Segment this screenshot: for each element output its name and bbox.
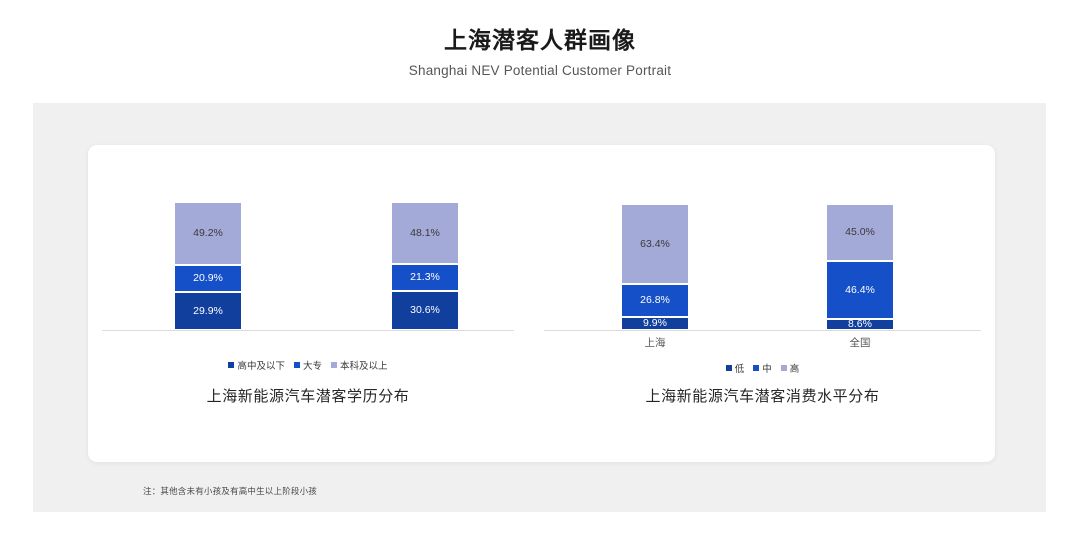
legend-label: 本科及以上 bbox=[340, 358, 388, 372]
legend-label: 高中及以下 bbox=[237, 358, 285, 372]
page-header: 上海潜客人群画像 Shanghai NEV Potential Customer… bbox=[0, 0, 1080, 78]
category-label: 上海 bbox=[621, 335, 689, 350]
chart-legend-consumption: 低 中 高 bbox=[544, 361, 981, 375]
chart-caption: 上海新能源汽车潜客学历分布 bbox=[102, 385, 514, 406]
chart-consumption-distribution: 63.4% 26.8% 9.9% 上海 45.0% 46.4% 8.6% 全国 bbox=[544, 145, 981, 415]
chart-education-distribution: 49.2% 20.9% 29.9% 48.1% 21.3% 30.6% 高中及 bbox=[102, 145, 514, 415]
legend-swatch-icon bbox=[294, 362, 300, 368]
charts-row: 49.2% 20.9% 29.9% 48.1% 21.3% 30.6% 高中及 bbox=[88, 145, 995, 415]
page-subtitle: Shanghai NEV Potential Customer Portrait bbox=[0, 63, 1080, 78]
bar-column[interactable]: 48.1% 21.3% 30.6% bbox=[391, 202, 459, 330]
bar-segment-high: 45.0% bbox=[826, 204, 894, 261]
bar-segment-highschool-below: 30.6% bbox=[391, 291, 459, 330]
charts-card: 49.2% 20.9% 29.9% 48.1% 21.3% 30.6% 高中及 bbox=[88, 145, 995, 462]
plot-area-consumption: 63.4% 26.8% 9.9% 上海 45.0% 46.4% 8.6% 全国 bbox=[544, 145, 981, 331]
bar-column[interactable]: 63.4% 26.8% 9.9% bbox=[621, 204, 689, 330]
footnote: 注：其他含未有小孩及有高中生以上阶段小孩 bbox=[143, 485, 317, 497]
chart-legend-education: 高中及以下 大专 本科及以上 bbox=[102, 358, 514, 372]
legend-swatch-icon bbox=[726, 365, 732, 371]
bar-segment-mid: 46.4% bbox=[826, 261, 894, 319]
page-title: 上海潜客人群画像 bbox=[0, 26, 1080, 55]
legend-swatch-icon bbox=[331, 362, 337, 368]
axis-line bbox=[544, 330, 981, 331]
bar-segment-low: 8.6% bbox=[826, 319, 894, 330]
legend-label: 高 bbox=[790, 361, 800, 375]
bar-segment-college: 21.3% bbox=[391, 264, 459, 291]
legend-item[interactable]: 本科及以上 bbox=[331, 358, 388, 372]
bar-segment-mid: 26.8% bbox=[621, 284, 689, 317]
content-panel: 49.2% 20.9% 29.9% 48.1% 21.3% 30.6% 高中及 bbox=[33, 103, 1046, 512]
legend-swatch-icon bbox=[228, 362, 234, 368]
legend-item[interactable]: 大专 bbox=[294, 358, 322, 372]
bar-column[interactable]: 49.2% 20.9% 29.9% bbox=[174, 202, 242, 330]
legend-item[interactable]: 高 bbox=[781, 361, 800, 375]
axis-line bbox=[102, 330, 514, 331]
bar-segment-highschool-below: 29.9% bbox=[174, 292, 242, 330]
legend-label: 大专 bbox=[303, 358, 322, 372]
bar-column[interactable]: 45.0% 46.4% 8.6% bbox=[826, 204, 894, 330]
legend-label: 中 bbox=[762, 361, 772, 375]
legend-item[interactable]: 高中及以下 bbox=[228, 358, 285, 372]
bar-segment-bachelor-above: 48.1% bbox=[391, 202, 459, 264]
legend-swatch-icon bbox=[781, 365, 787, 371]
chart-caption: 上海新能源汽车潜客消费水平分布 bbox=[544, 385, 981, 406]
legend-swatch-icon bbox=[753, 365, 759, 371]
plot-area-education: 49.2% 20.9% 29.9% 48.1% 21.3% 30.6% bbox=[102, 145, 514, 331]
bar-segment-bachelor-above: 49.2% bbox=[174, 202, 242, 265]
category-label: 全国 bbox=[826, 335, 894, 350]
legend-item[interactable]: 中 bbox=[753, 361, 772, 375]
bar-segment-high: 63.4% bbox=[621, 204, 689, 284]
legend-label: 低 bbox=[735, 361, 745, 375]
bar-segment-college: 20.9% bbox=[174, 265, 242, 292]
bar-segment-low: 9.9% bbox=[621, 317, 689, 330]
legend-item[interactable]: 低 bbox=[726, 361, 745, 375]
